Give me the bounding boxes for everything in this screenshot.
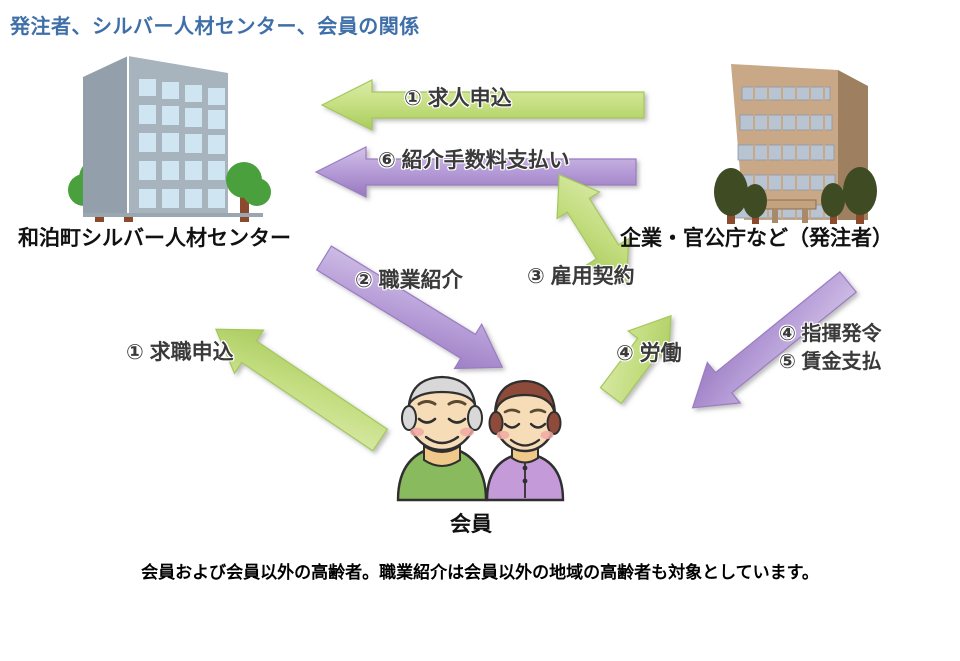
arrow-job-application	[201, 308, 394, 462]
arrow-job-introduction	[310, 236, 515, 390]
footer-caption: 会員および会員以外の高齢者。職業紹介は会員以外の地域の高齢者も対象としています。	[0, 558, 960, 583]
arrow-label-labor: ④ 労働	[616, 337, 682, 367]
node-label-member: 会員	[450, 508, 492, 538]
arrow-label-referral-fee: ⑥ 紹介手数料支払い	[378, 144, 570, 174]
elderly-woman-figure	[487, 381, 563, 500]
node-label-company: 企業・官公庁など（発注者）	[620, 222, 893, 252]
arrow-label-job-application: ① 求職申込	[126, 336, 234, 366]
elderly-man-figure	[398, 377, 486, 500]
office-building-icon	[68, 56, 271, 222]
arrow-label-wage: ⑤ 賃金支払	[779, 348, 882, 376]
arrow-label-job-offer: ① 求人申込	[404, 82, 512, 112]
elderly-couple-icon	[398, 377, 563, 500]
arrow-label-job-introduction: ② 職業紹介	[355, 264, 463, 294]
government-building-icon	[714, 64, 877, 224]
diagram-canvas: 発注者、シルバー人材センター、会員の関係	[0, 0, 960, 661]
arrow-label-command: ④ 指揮発令	[779, 320, 882, 348]
arrow-label-employment-contract: ③ 雇用契約	[527, 260, 635, 290]
arrow-label-command-wage: ④ 指揮発令 ⑤ 賃金支払	[779, 320, 882, 376]
node-label-silver-center: 和泊町シルバー人材センター	[18, 222, 291, 252]
